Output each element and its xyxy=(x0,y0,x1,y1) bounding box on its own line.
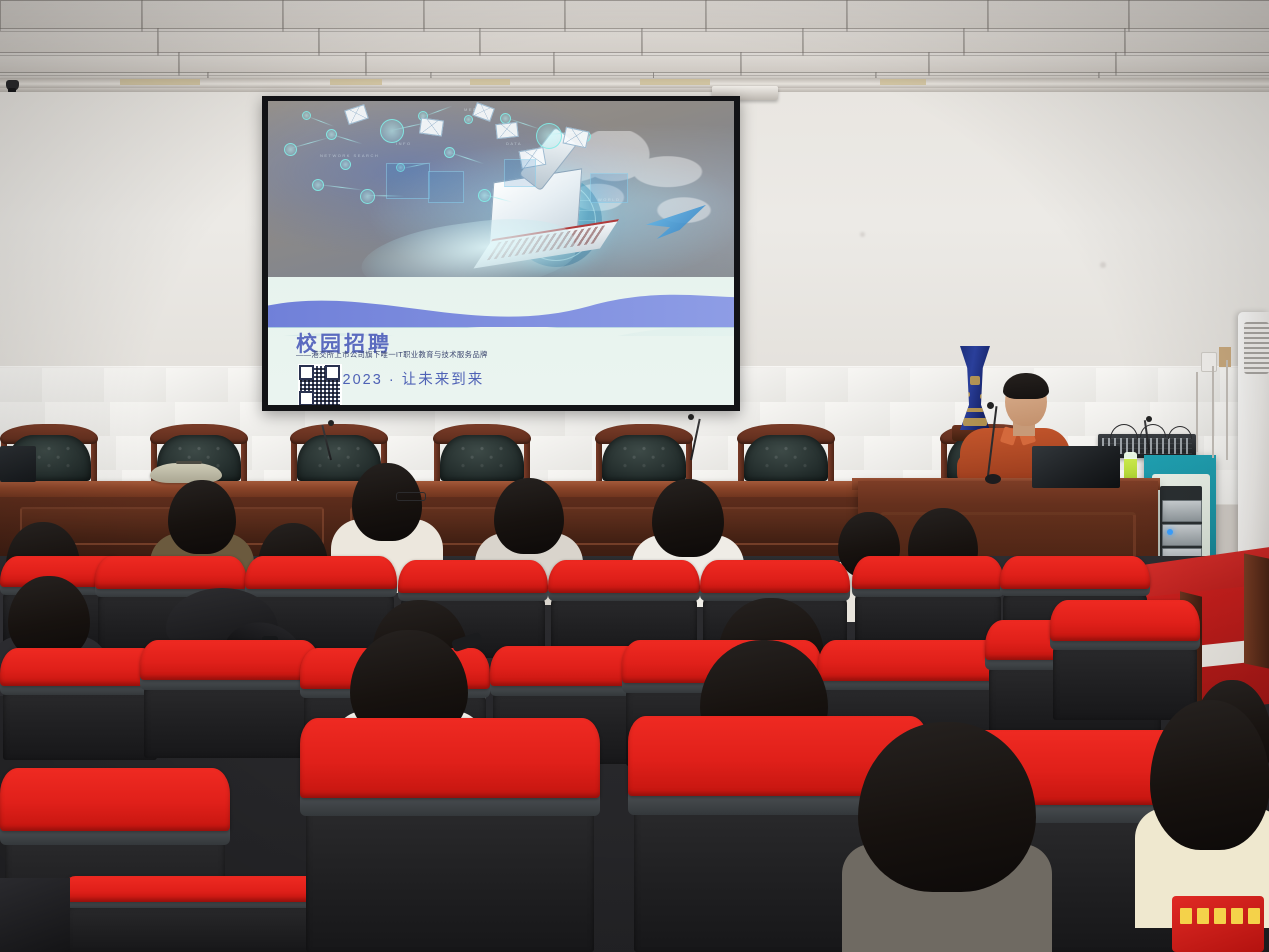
bag-text-glyph xyxy=(1231,908,1243,924)
attendee-r1-d-head xyxy=(652,479,724,557)
seat-headrest xyxy=(548,560,700,593)
attendee-r1-a-head xyxy=(168,480,236,554)
auditorium-seat xyxy=(300,718,600,952)
seat-headrest xyxy=(700,560,850,593)
seat-headrest xyxy=(0,648,160,686)
bag-text-glyph xyxy=(1197,908,1209,924)
microphone-head-icon xyxy=(688,414,694,420)
seat-back xyxy=(144,684,317,758)
seat-headrest xyxy=(300,718,600,798)
seat-back xyxy=(306,805,594,952)
attendee-r4-a-head xyxy=(858,722,1036,892)
seat-headrest xyxy=(140,640,320,680)
seat-headrest xyxy=(398,560,548,593)
seat-headrest xyxy=(95,556,247,589)
attendee-r1-c-head xyxy=(494,478,564,554)
seat-headrest xyxy=(1050,600,1200,641)
attendee-r1-b-head xyxy=(352,463,422,541)
seat-headrest xyxy=(245,556,397,589)
hanging-cable xyxy=(1226,360,1228,460)
red-bag xyxy=(1172,896,1264,952)
attendee-r4-b-head xyxy=(1150,700,1269,850)
microphone-head-icon xyxy=(1146,416,1152,422)
seat-back xyxy=(3,689,157,760)
attendee-front-jacket xyxy=(0,878,70,952)
seat-headrest xyxy=(818,640,1008,681)
auditorium-seat xyxy=(140,640,320,758)
eyeglasses-icon xyxy=(396,492,426,501)
hanging-cable xyxy=(1196,372,1198,452)
audience-area xyxy=(0,0,1269,952)
seat-back xyxy=(1053,644,1197,720)
bag-text-glyph xyxy=(1214,908,1226,924)
hanging-cable xyxy=(1212,366,1214,458)
microphone-head-icon xyxy=(328,420,334,426)
lecture-hall-photo: NETWORK SEARCHMEDIADATAINFOWORLD 校园招聘 ——… xyxy=(0,0,1269,952)
auditorium-seat xyxy=(0,648,160,760)
auditorium-seat xyxy=(1050,600,1200,720)
seat-headrest xyxy=(0,768,230,831)
seat-headrest xyxy=(1000,556,1150,589)
bag-text-glyph xyxy=(1248,908,1260,924)
bag-text-glyph xyxy=(1180,908,1192,924)
seat-headrest xyxy=(852,556,1004,589)
